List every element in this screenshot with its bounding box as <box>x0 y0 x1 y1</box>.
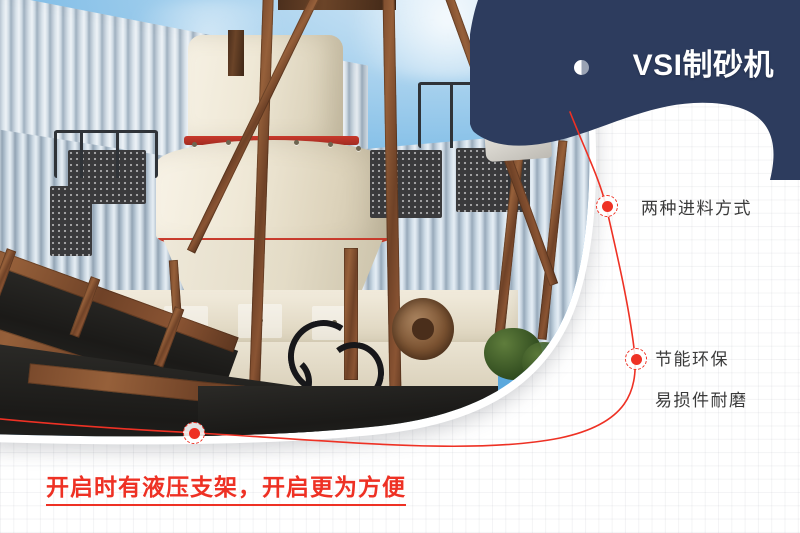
product-photo-panel <box>0 0 628 445</box>
perforated-panel <box>50 186 92 256</box>
tarp-cover <box>482 92 552 162</box>
feature-label-2: 节能环保 <box>655 345 729 370</box>
feature-label-1: 两种进料方式 <box>641 194 752 219</box>
infographic-canvas: VSI制砂机 两种进料方式 节能环保 易损件耐磨 开启时有液压支架，开启更为方便 <box>0 0 800 533</box>
crusher-main-drum <box>156 140 391 252</box>
page-title: VSI制砂机 <box>633 40 774 84</box>
title-bullet-icon <box>574 60 589 75</box>
handrail <box>54 130 158 178</box>
feature-label-3: 易损件耐磨 <box>655 386 748 411</box>
perforated-panel <box>370 150 442 218</box>
bottom-caption: 开启时有液压支架，开启更为方便 <box>46 468 406 506</box>
feature-marker-1[interactable] <box>596 195 618 217</box>
caption-marker[interactable] <box>183 422 205 444</box>
feature-marker-2[interactable] <box>625 348 647 370</box>
flywheel <box>392 298 454 360</box>
